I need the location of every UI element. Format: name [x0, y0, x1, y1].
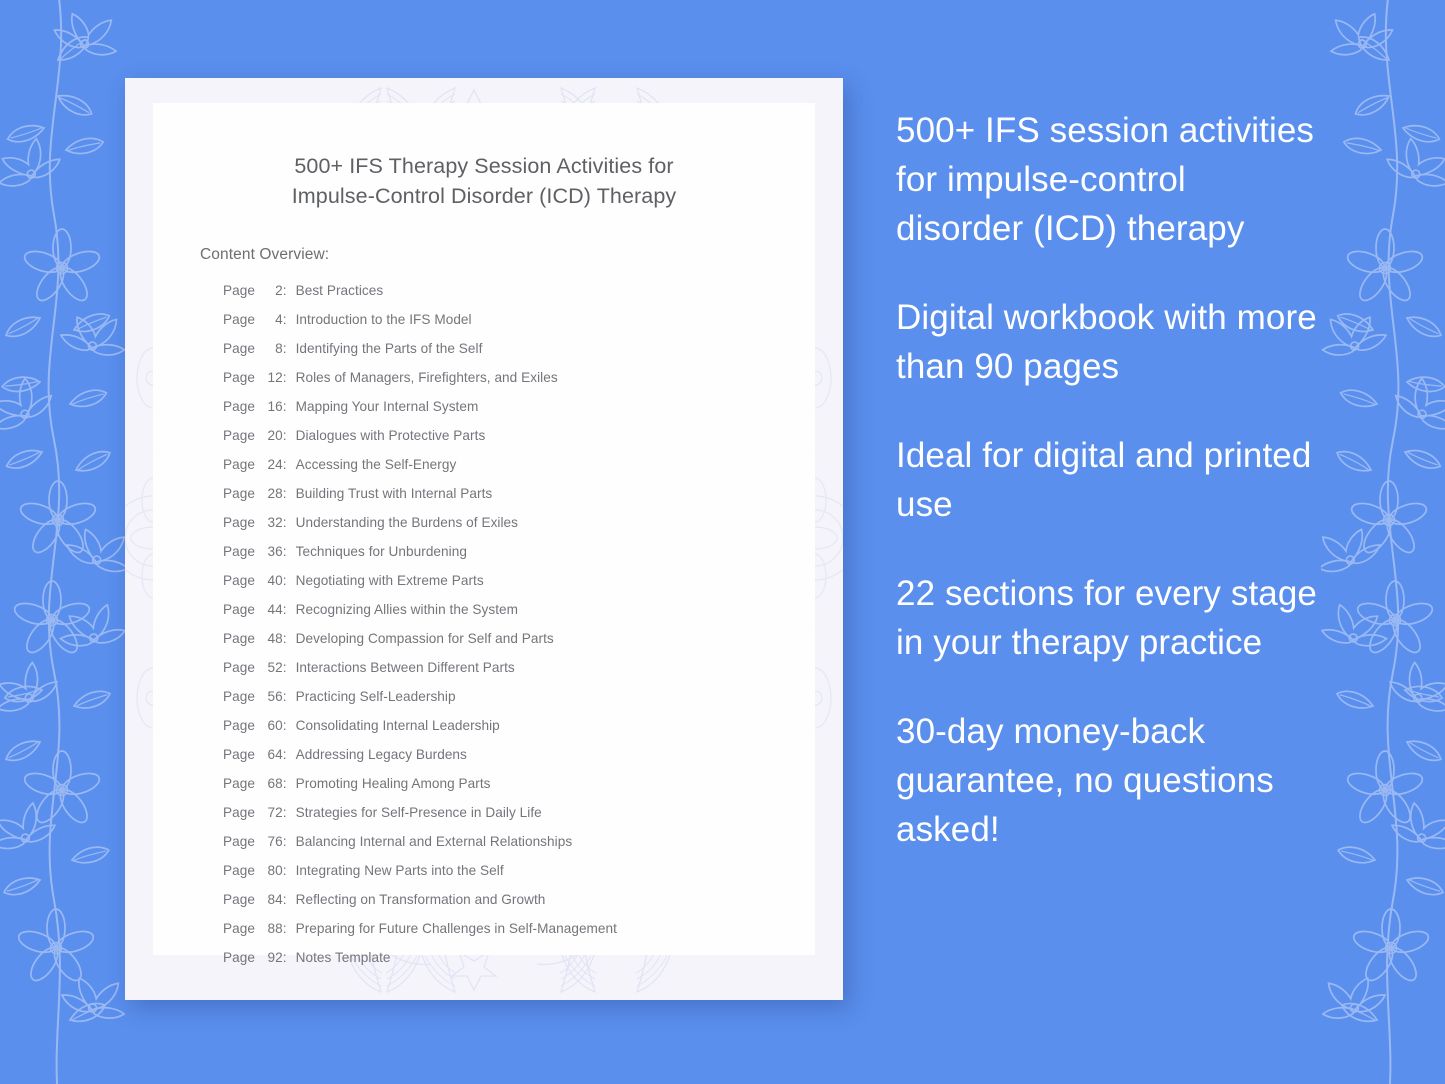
toc-item: Page 44:Recognizing Allies within the Sy…: [223, 602, 773, 631]
toc-entry-title: Addressing Legacy Burdens: [296, 747, 467, 762]
toc-page-number: 16: [259, 399, 283, 414]
toc-item: Page 56:Practicing Self-Leadership: [223, 689, 773, 718]
toc-page-number: 8: [259, 341, 283, 356]
toc-entry-title: Balancing Internal and External Relation…: [296, 834, 573, 849]
toc-entry-title: Reflecting on Transformation and Growth: [296, 892, 546, 907]
toc-page-word: Page: [223, 399, 259, 414]
toc-page-word: Page: [223, 515, 259, 530]
toc-colon: :: [283, 834, 287, 849]
toc-page-number: 32: [259, 515, 283, 530]
toc-item: Page 88:Preparing for Future Challenges …: [223, 921, 773, 950]
toc-page-word: Page: [223, 660, 259, 675]
toc-item: Page 68:Promoting Healing Among Parts: [223, 776, 773, 805]
toc-page-word: Page: [223, 805, 259, 820]
toc-colon: :: [283, 863, 287, 878]
toc-page-number: 52: [259, 660, 283, 675]
toc-item: Page 28:Building Trust with Internal Par…: [223, 486, 773, 515]
toc-page-word: Page: [223, 747, 259, 762]
toc-colon: :: [283, 283, 287, 298]
toc-entry-title: Roles of Managers, Firefighters, and Exi…: [296, 370, 558, 385]
toc-item: Page 48:Developing Compassion for Self a…: [223, 631, 773, 660]
toc-page-word: Page: [223, 312, 259, 327]
toc-page-number: 80: [259, 863, 283, 878]
toc-page-word: Page: [223, 776, 259, 791]
toc-entry-title: Introduction to the IFS Model: [296, 312, 472, 327]
toc-entry-title: Developing Compassion for Self and Parts: [296, 631, 554, 646]
marketing-bullet: Ideal for digital and printed use: [896, 431, 1321, 529]
marketing-bullet: 30-day money-back guarantee, no question…: [896, 707, 1321, 854]
toc-entry-title: Interactions Between Different Parts: [296, 660, 515, 675]
toc-item: Page 76:Balancing Internal and External …: [223, 834, 773, 863]
toc-page-word: Page: [223, 631, 259, 646]
document-title: 500+ IFS Therapy Session Activities for …: [195, 151, 773, 211]
toc-colon: :: [283, 515, 287, 530]
toc-colon: :: [283, 544, 287, 559]
toc-colon: :: [283, 950, 287, 965]
toc-entry-title: Practicing Self-Leadership: [296, 689, 456, 704]
toc-entry-title: Dialogues with Protective Parts: [296, 428, 486, 443]
marketing-bullet: 500+ IFS session activities for impulse-…: [896, 106, 1321, 253]
toc-colon: :: [283, 486, 287, 501]
toc-colon: :: [283, 660, 287, 675]
toc-entry-title: Promoting Healing Among Parts: [296, 776, 491, 791]
toc-colon: :: [283, 428, 287, 443]
toc-page-number: 64: [259, 747, 283, 762]
toc-colon: :: [283, 457, 287, 472]
toc-item: Page 92:Notes Template: [223, 950, 773, 979]
toc-entry-title: Preparing for Future Challenges in Self-…: [296, 921, 617, 936]
toc-page-number: 36: [259, 544, 283, 559]
toc-item: Page 2:Best Practices: [223, 283, 773, 312]
toc-item: Page 60:Consolidating Internal Leadershi…: [223, 718, 773, 747]
toc-page-number: 24: [259, 457, 283, 472]
toc-item: Page 36:Techniques for Unburdening: [223, 544, 773, 573]
toc-item: Page 72:Strategies for Self-Presence in …: [223, 805, 773, 834]
toc-page-word: Page: [223, 950, 259, 965]
toc-colon: :: [283, 631, 287, 646]
toc-entry-title: Strategies for Self-Presence in Daily Li…: [296, 805, 542, 820]
toc-page-number: 72: [259, 805, 283, 820]
floral-vine-border-left-icon: [0, 0, 126, 1084]
toc-page-number: 4: [259, 312, 283, 327]
toc-page-number: 12: [259, 370, 283, 385]
toc-entry-title: Integrating New Parts into the Self: [296, 863, 504, 878]
toc-page-number: 20: [259, 428, 283, 443]
toc-page-word: Page: [223, 718, 259, 733]
toc-item: Page 12:Roles of Managers, Firefighters,…: [223, 370, 773, 399]
floral-vine-border-right-icon: [1321, 0, 1445, 1084]
toc-page-word: Page: [223, 370, 259, 385]
marketing-bullet: Digital workbook with more than 90 pages: [896, 293, 1321, 391]
toc-page-word: Page: [223, 602, 259, 617]
toc-colon: :: [283, 747, 287, 762]
toc-page-word: Page: [223, 486, 259, 501]
toc-page-word: Page: [223, 573, 259, 588]
table-of-contents-list: Page 2:Best PracticesPage 4:Introduction…: [195, 283, 773, 979]
toc-entry-title: Negotiating with Extreme Parts: [296, 573, 484, 588]
toc-entry-title: Techniques for Unburdening: [296, 544, 467, 559]
toc-page-number: 28: [259, 486, 283, 501]
toc-entry-title: Notes Template: [296, 950, 391, 965]
toc-item: Page 64:Addressing Legacy Burdens: [223, 747, 773, 776]
toc-page-number: 56: [259, 689, 283, 704]
marketing-bullet: 22 sections for every stage in your ther…: [896, 569, 1321, 667]
toc-item: Page 32:Understanding the Burdens of Exi…: [223, 515, 773, 544]
marketing-bullets: 500+ IFS session activities for impulse-…: [896, 106, 1321, 894]
toc-colon: :: [283, 776, 287, 791]
toc-entry-title: Recognizing Allies within the System: [296, 602, 518, 617]
toc-item: Page 4:Introduction to the IFS Model: [223, 312, 773, 341]
toc-colon: :: [283, 689, 287, 704]
toc-item: Page 20:Dialogues with Protective Parts: [223, 428, 773, 457]
toc-colon: :: [283, 573, 287, 588]
toc-entry-title: Mapping Your Internal System: [296, 399, 479, 414]
toc-page-word: Page: [223, 341, 259, 356]
content-overview-label: Content Overview:: [200, 246, 773, 264]
toc-page-number: 88: [259, 921, 283, 936]
toc-colon: :: [283, 602, 287, 617]
toc-item: Page 24:Accessing the Self-Energy: [223, 457, 773, 486]
toc-page-number: 2: [259, 283, 283, 298]
toc-page-number: 92: [259, 950, 283, 965]
toc-colon: :: [283, 718, 287, 733]
toc-colon: :: [283, 312, 287, 327]
toc-page-number: 40: [259, 573, 283, 588]
toc-page-number: 76: [259, 834, 283, 849]
toc-page-number: 84: [259, 892, 283, 907]
toc-page-number: 44: [259, 602, 283, 617]
toc-colon: :: [283, 805, 287, 820]
toc-colon: :: [283, 921, 287, 936]
toc-colon: :: [283, 399, 287, 414]
toc-page-number: 68: [259, 776, 283, 791]
toc-colon: :: [283, 892, 287, 907]
toc-entry-title: Identifying the Parts of the Self: [296, 341, 483, 356]
toc-colon: :: [283, 370, 287, 385]
toc-page-word: Page: [223, 457, 259, 472]
toc-page-number: 48: [259, 631, 283, 646]
toc-entry-title: Consolidating Internal Leadership: [296, 718, 500, 733]
toc-page-word: Page: [223, 921, 259, 936]
document-card: 500+ IFS Therapy Session Activities for …: [125, 78, 843, 1000]
toc-page-number: 60: [259, 718, 283, 733]
toc-page-word: Page: [223, 283, 259, 298]
toc-entry-title: Accessing the Self-Energy: [296, 457, 457, 472]
toc-page-word: Page: [223, 863, 259, 878]
toc-page-word: Page: [223, 834, 259, 849]
toc-entry-title: Understanding the Burdens of Exiles: [296, 515, 518, 530]
toc-item: Page 8:Identifying the Parts of the Self: [223, 341, 773, 370]
toc-entry-title: Best Practices: [296, 283, 384, 298]
toc-item: Page 80:Integrating New Parts into the S…: [223, 863, 773, 892]
toc-page-word: Page: [223, 544, 259, 559]
toc-colon: :: [283, 341, 287, 356]
toc-page-word: Page: [223, 428, 259, 443]
toc-item: Page 16:Mapping Your Internal System: [223, 399, 773, 428]
toc-item: Page 52:Interactions Between Different P…: [223, 660, 773, 689]
toc-page-word: Page: [223, 689, 259, 704]
toc-item: Page 84:Reflecting on Transformation and…: [223, 892, 773, 921]
toc-item: Page 40:Negotiating with Extreme Parts: [223, 573, 773, 602]
toc-page-word: Page: [223, 892, 259, 907]
document-page: 500+ IFS Therapy Session Activities for …: [153, 103, 815, 955]
toc-entry-title: Building Trust with Internal Parts: [296, 486, 493, 501]
